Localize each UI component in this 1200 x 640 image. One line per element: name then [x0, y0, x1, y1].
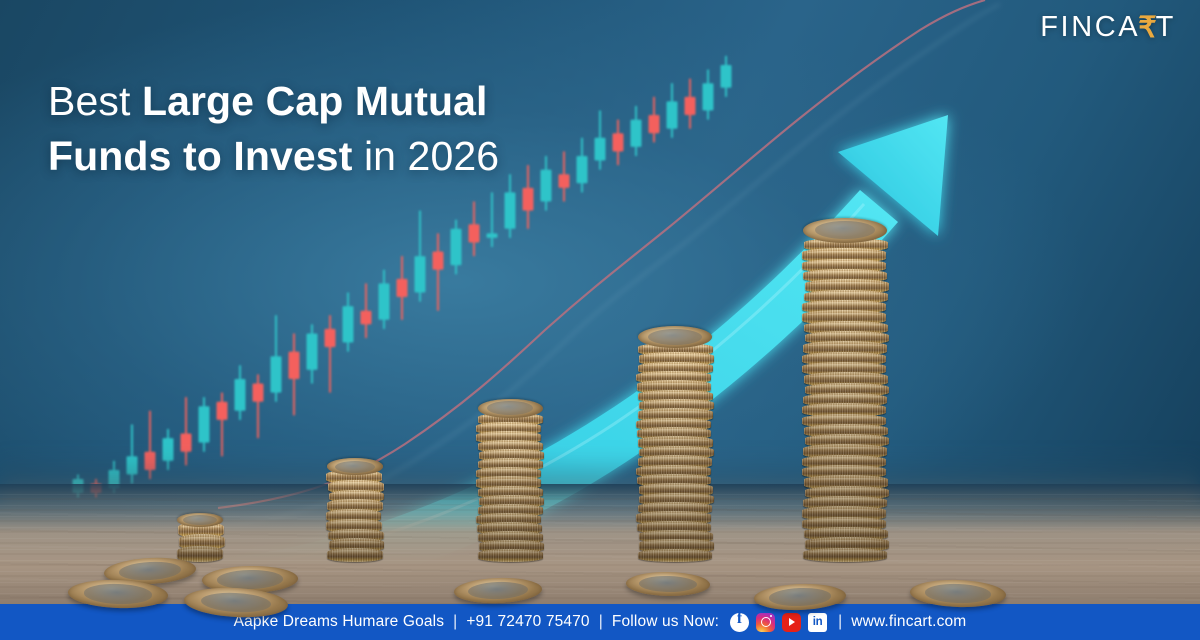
- footer-separator-2: |: [599, 613, 603, 631]
- coin-stack: [177, 512, 223, 562]
- loose-coin: [454, 576, 543, 604]
- coin-stack: [327, 460, 383, 562]
- headline-line1-normal: Best: [48, 78, 142, 124]
- coin-stack-top-face: [803, 218, 887, 243]
- headline-line2-bold: Funds to Invest: [48, 133, 352, 179]
- headline-line1-bold: Large Cap Mutual: [142, 78, 488, 124]
- fincart-logo[interactable]: FINCA₹T: [1040, 10, 1176, 45]
- footer-bar: Aapke Dreams Humare Goals | +91 72470 75…: [0, 604, 1200, 640]
- coin-stack-top-face: [327, 458, 383, 475]
- marketing-banner: Best Large Cap Mutual Funds to Invest in…: [0, 0, 1200, 640]
- coin-stack: [638, 333, 713, 562]
- coin: [478, 549, 543, 562]
- footer-follow-label: Follow us Now:: [612, 613, 719, 631]
- footer-website[interactable]: www.fincart.com: [851, 613, 966, 631]
- footer-phone[interactable]: +91 72470 75470: [466, 613, 589, 631]
- coin-stack-top-face: [478, 399, 543, 419]
- coin-stack: [803, 228, 887, 562]
- logo-text-part1: FINCA: [1040, 11, 1140, 44]
- facebook-icon[interactable]: [730, 613, 749, 632]
- linkedin-icon[interactable]: [808, 613, 827, 632]
- coin: [638, 549, 713, 562]
- instagram-icon[interactable]: [756, 613, 775, 632]
- footer-separator-1: |: [453, 613, 457, 631]
- footer-separator-3: |: [838, 613, 842, 631]
- social-links: [730, 613, 827, 632]
- logo-text-part2: T: [1156, 11, 1176, 44]
- loose-coin: [626, 571, 710, 596]
- page-title: Best Large Cap Mutual Funds to Invest in…: [48, 74, 668, 184]
- coin-stack-top-face: [638, 326, 713, 348]
- coin: [803, 548, 887, 562]
- headline-line2-normal: in 2026: [352, 133, 499, 179]
- coin: [327, 548, 383, 562]
- rupee-icon: ₹: [1138, 10, 1156, 45]
- youtube-icon[interactable]: [782, 613, 801, 632]
- coin-stack-top-face: [177, 513, 223, 527]
- coin-stack: [478, 403, 543, 562]
